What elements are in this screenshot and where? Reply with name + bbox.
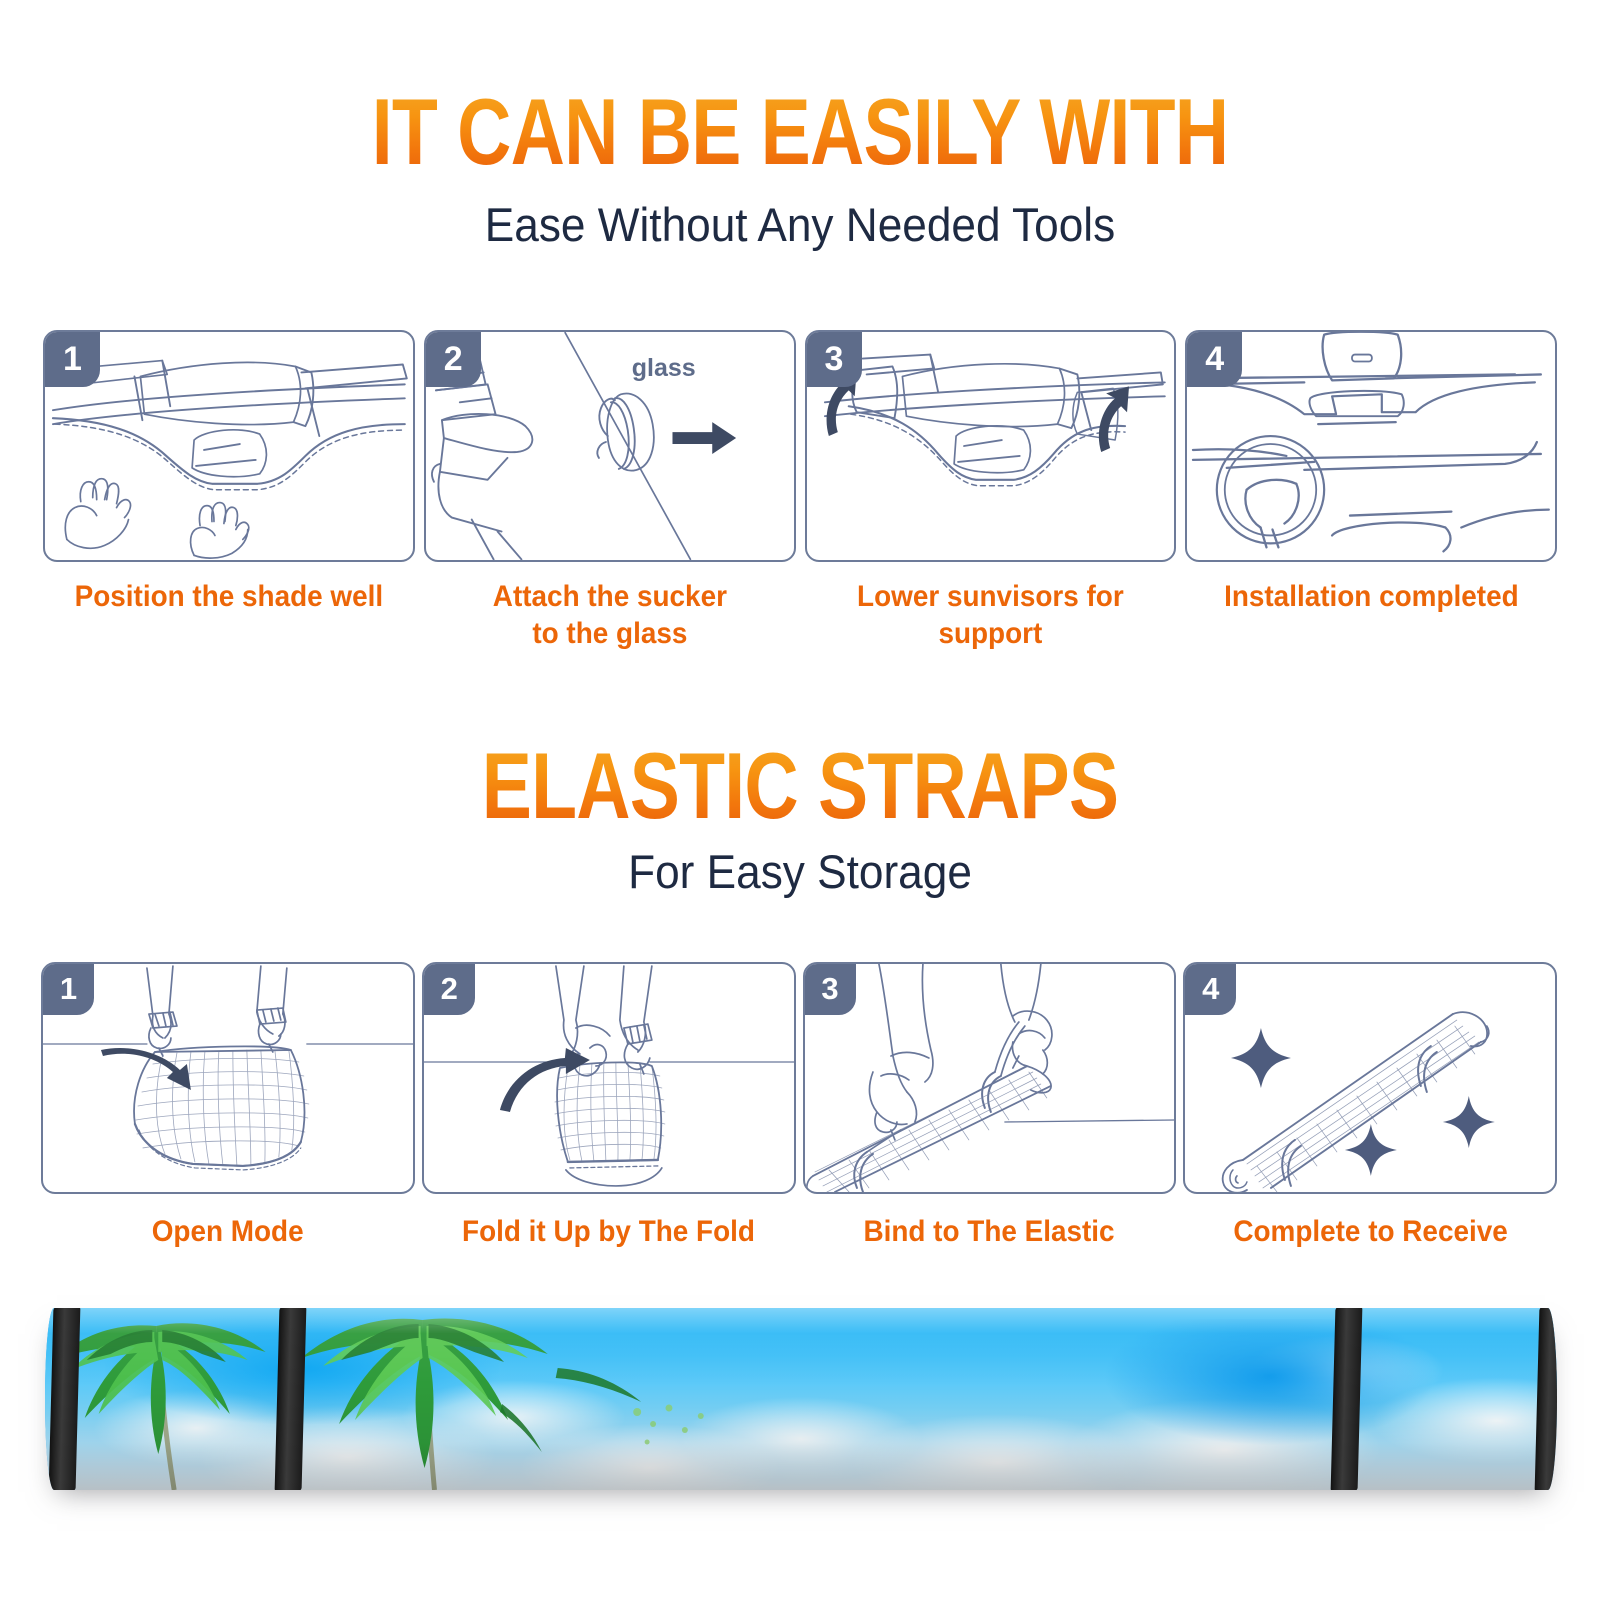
section-1-subtitle-wrap: Ease Without Any Needed Tools <box>0 196 1600 255</box>
hand-suction-cup-icon <box>426 332 794 560</box>
step-card-1[interactable]: 1 <box>45 330 413 652</box>
storage-step-1-number-badge: 1 <box>42 963 94 1015</box>
step-4-illustration-frame: 4 <box>1185 330 1557 562</box>
hands-fold-shade-icon <box>424 964 794 1192</box>
storage-step-4-number-badge: 4 <box>1184 963 1236 1015</box>
storage-step-1-caption: Open Mode <box>152 1214 304 1251</box>
elastic-strap-4 <box>1535 1308 1557 1490</box>
section-2-title-wrap: ELASTIC STRAPS <box>0 738 1600 834</box>
rolled-sunshade-product-photo <box>45 1308 1557 1490</box>
storage-step-card-3[interactable]: 3 <box>805 962 1175 1251</box>
step-4-caption: Installation completed <box>1224 579 1519 616</box>
step-1-number-badge: 1 <box>44 331 100 387</box>
install-steps-row: 1 <box>45 330 1555 652</box>
elastic-strap-1 <box>49 1308 81 1490</box>
storage-step-3-frame: 3 <box>803 962 1177 1194</box>
storage-step-3-number-badge: 3 <box>804 963 856 1015</box>
elastic-strap-3 <box>1331 1308 1363 1490</box>
step-3-caption: Lower sunvisors for support <box>857 579 1124 652</box>
hands-hold-open-shade-icon <box>43 964 413 1192</box>
storage-step-card-4[interactable]: 4 <box>1185 962 1555 1251</box>
storage-step-3-caption: Bind to The Elastic <box>864 1214 1115 1251</box>
storage-step-4-caption: Complete to Receive <box>1233 1214 1507 1251</box>
step-1-caption: Position the shade well <box>75 579 384 616</box>
step-2-caption: Attach the sucker to the glass <box>493 579 727 652</box>
elastic-strap-2 <box>275 1308 307 1490</box>
storage-step-2-caption: Fold it Up by The Fold <box>462 1214 755 1251</box>
glass-annotation-label: glass <box>632 354 696 383</box>
storage-step-card-1[interactable]: 1 <box>43 962 413 1251</box>
storage-steps-row: 1 <box>43 962 1555 1251</box>
storage-step-1-frame: 1 <box>41 962 415 1194</box>
section-1-subtitle: Ease Without Any Needed Tools <box>48 196 1552 255</box>
car-dashboard-hands-icon <box>45 332 413 560</box>
step-2-illustration-frame: 2 <box>424 330 796 562</box>
step-card-2[interactable]: 2 <box>426 330 794 652</box>
step-4-number-badge: 4 <box>1186 331 1242 387</box>
storage-step-card-2[interactable]: 2 <box>424 962 794 1251</box>
step-card-3[interactable]: 3 <box>807 330 1175 652</box>
section-2-title: ELASTIC STRAPS <box>160 738 1440 834</box>
step-3-number-badge: 3 <box>806 331 862 387</box>
step-3-illustration-frame: 3 <box>805 330 1177 562</box>
sunvisors-arrows-icon <box>807 332 1175 560</box>
section-2-subtitle-wrap: For Easy Storage <box>0 843 1600 902</box>
hands-bind-elastic-icon <box>805 964 1175 1192</box>
rolled-shade-sparkles-icon <box>1185 964 1555 1192</box>
storage-step-4-frame: 4 <box>1183 962 1557 1194</box>
section-1-title: IT CAN BE EASILY WITH <box>160 84 1440 180</box>
section-2-subtitle: For Easy Storage <box>48 843 1552 902</box>
cylinder-shading-overlay <box>45 1308 1557 1490</box>
step-1-illustration-frame: 1 <box>43 330 415 562</box>
storage-step-2-number-badge: 2 <box>423 963 475 1015</box>
step-2-number-badge: 2 <box>425 331 481 387</box>
storage-step-2-frame: 2 <box>422 962 796 1194</box>
car-interior-complete-icon <box>1187 332 1555 560</box>
step-card-4[interactable]: 4 <box>1187 330 1555 652</box>
section-1-title-wrap: IT CAN BE EASILY WITH <box>0 84 1600 180</box>
